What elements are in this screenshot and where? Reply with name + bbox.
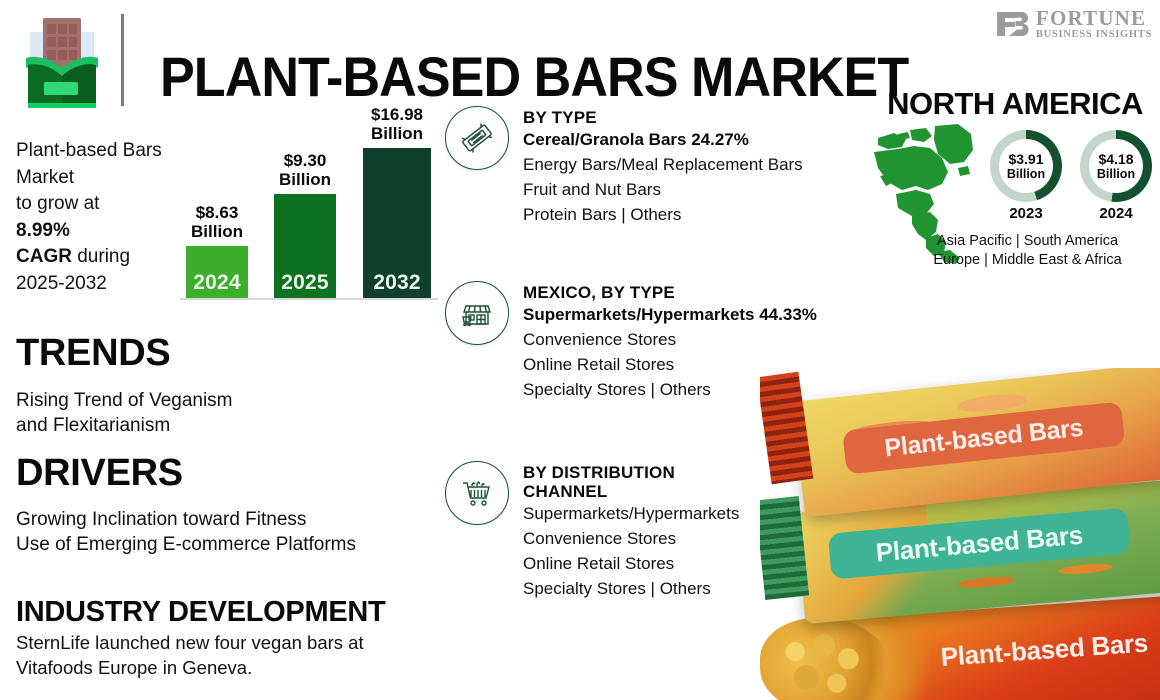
bar-column-2032: $16.98Billion 2032 <box>363 148 431 298</box>
bar-rect-2025: 2025 <box>274 194 336 298</box>
bar-year-2025: 2025 <box>274 271 336 295</box>
intro-line-3: to grow at <box>16 191 191 218</box>
drivers-body: Growing Inclination toward Fitness Use o… <box>16 507 416 557</box>
other-regions-list: Asia Pacific | South America Europe | Mi… <box>900 232 1155 270</box>
segment-item: Online Retail Stores <box>523 551 739 576</box>
intro-line-2: Market <box>16 165 191 192</box>
bar-year-2024: 2024 <box>186 271 248 295</box>
drivers-heading: DRIVERS <box>16 452 183 495</box>
segment-item: Protein Bars | Others <box>523 202 803 227</box>
segment-by-type: BY TYPE Cereal/Granola Bars 24.27% Energ… <box>445 106 803 227</box>
infographic-canvas: PLANT-BASED BARS MARKET FORTUNE BUSINESS… <box>0 0 1160 700</box>
product-photo: Plant-based Bars Plant-based Bars Plant-… <box>760 368 1160 700</box>
intro-cagr-word: CAGR <box>16 246 72 267</box>
page-title: PLANT-BASED BARS MARKET <box>160 46 867 110</box>
drivers-line-2: Use of Emerging E-commerce Platforms <box>16 532 416 557</box>
header-divider <box>121 14 124 106</box>
segment-by-distribution-channel: BY DISTRIBUTION CHANNEL Supermarkets/Hyp… <box>445 461 739 601</box>
donut-2024-center: $4.18 Billion <box>1089 139 1143 193</box>
donut-2023-year: 2023 <box>990 205 1062 222</box>
industry-development-body: SternLife launched new four vegan bars a… <box>16 630 416 680</box>
segment-title: BY DISTRIBUTION <box>523 463 739 482</box>
segment-item: Convenience Stores <box>523 327 817 352</box>
bar-value-label-2024: $8.63Billion <box>191 203 243 241</box>
intro-period: 2025-2032 <box>16 271 191 298</box>
granola-crumbs-detail <box>778 630 873 700</box>
brand-tagline: BUSINESS INSIGHTS <box>1036 30 1152 41</box>
donut-2024-year: 2024 <box>1080 205 1152 222</box>
trends-line-1: Rising Trend of Veganism <box>16 388 346 413</box>
segment-title: BY TYPE <box>523 108 803 127</box>
brand-name: FORTUNE <box>1036 8 1152 29</box>
bar-rect-2032: 2032 <box>363 148 431 298</box>
donut-2023-center: $3.91 Billion <box>999 139 1053 193</box>
bar-column-2024: $8.63Billion 2024 <box>186 246 248 298</box>
segment-title-line2: CHANNEL <box>523 482 739 501</box>
bar-column-2025: $9.30Billion 2025 <box>274 194 336 298</box>
intro-line-1: Plant-based Bars <box>16 138 191 165</box>
trends-body: Rising Trend of Veganism and Flexitarian… <box>16 388 346 438</box>
pack-label-bottom: Plant-based Bars <box>920 618 1160 681</box>
segment-lead: Supermarkets/Hypermarkets 44.33% <box>523 303 817 327</box>
donut-2023-amount: $3.91 <box>1008 152 1043 167</box>
donut-2024-amount: $4.18 <box>1098 152 1133 167</box>
trends-line-2: and Flexitarianism <box>16 413 346 438</box>
bar-value-label-2025: $9.30Billion <box>279 151 331 189</box>
trends-heading: TRENDS <box>16 332 170 375</box>
donut-2023-unit: Billion <box>1007 167 1045 181</box>
industry-line-2: Vitafoods Europe in Geneva. <box>16 655 416 680</box>
industry-line-1: SternLife launched new four vegan bars a… <box>16 630 416 655</box>
segment-item: Specialty Stores | Others <box>523 576 739 601</box>
regions-line-2: Europe | Middle East & Africa <box>900 251 1155 270</box>
donut-2024-unit: Billion <box>1097 167 1135 181</box>
intro-cagr-value: 8.99% <box>16 220 70 241</box>
shopping-cart-icon <box>445 461 509 525</box>
intro-during-word: during <box>72 246 130 267</box>
bar-value-label-2032: $16.98Billion <box>371 105 423 143</box>
fortune-business-insights-logo: FORTUNE BUSINESS INSIGHTS <box>995 8 1152 41</box>
chocolate-bar-logo-icon <box>16 10 108 110</box>
pack-ruffle-top <box>760 372 813 485</box>
segment-item: Convenience Stores <box>523 526 739 551</box>
segment-title: MEXICO, BY TYPE <box>523 283 817 302</box>
storefront-icon <box>445 281 509 345</box>
segment-item: Supermarkets/Hypermarkets <box>523 501 739 526</box>
bar-rect-2024: 2024 <box>186 246 248 298</box>
regions-line-1: Asia Pacific | South America <box>900 232 1155 251</box>
donut-chart-2024: $4.18 Billion <box>1080 130 1152 202</box>
segment-lead: Cereal/Granola Bars 24.27% <box>523 128 803 152</box>
drivers-line-1: Growing Inclination toward Fitness <box>16 507 416 532</box>
bar-year-2032: 2032 <box>363 271 431 295</box>
industry-development-heading: INDUSTRY DEVELOPMENT <box>16 596 385 629</box>
segment-item: Fruit and Nut Bars <box>523 177 803 202</box>
granola-bar-icon <box>445 106 509 170</box>
market-intro-text: Plant-based Bars Market to grow at 8.99%… <box>16 138 191 297</box>
segment-item: Energy Bars/Meal Replacement Bars <box>523 152 803 177</box>
north-america-title: NORTH AMERICA <box>880 86 1150 122</box>
market-size-bar-chart: $8.63Billion 2024 $9.30Billion 2025 $16.… <box>180 118 440 300</box>
donut-chart-2023: $3.91 Billion <box>990 130 1062 202</box>
chart-baseline <box>180 298 438 300</box>
fbi-monogram-icon <box>995 10 1029 38</box>
